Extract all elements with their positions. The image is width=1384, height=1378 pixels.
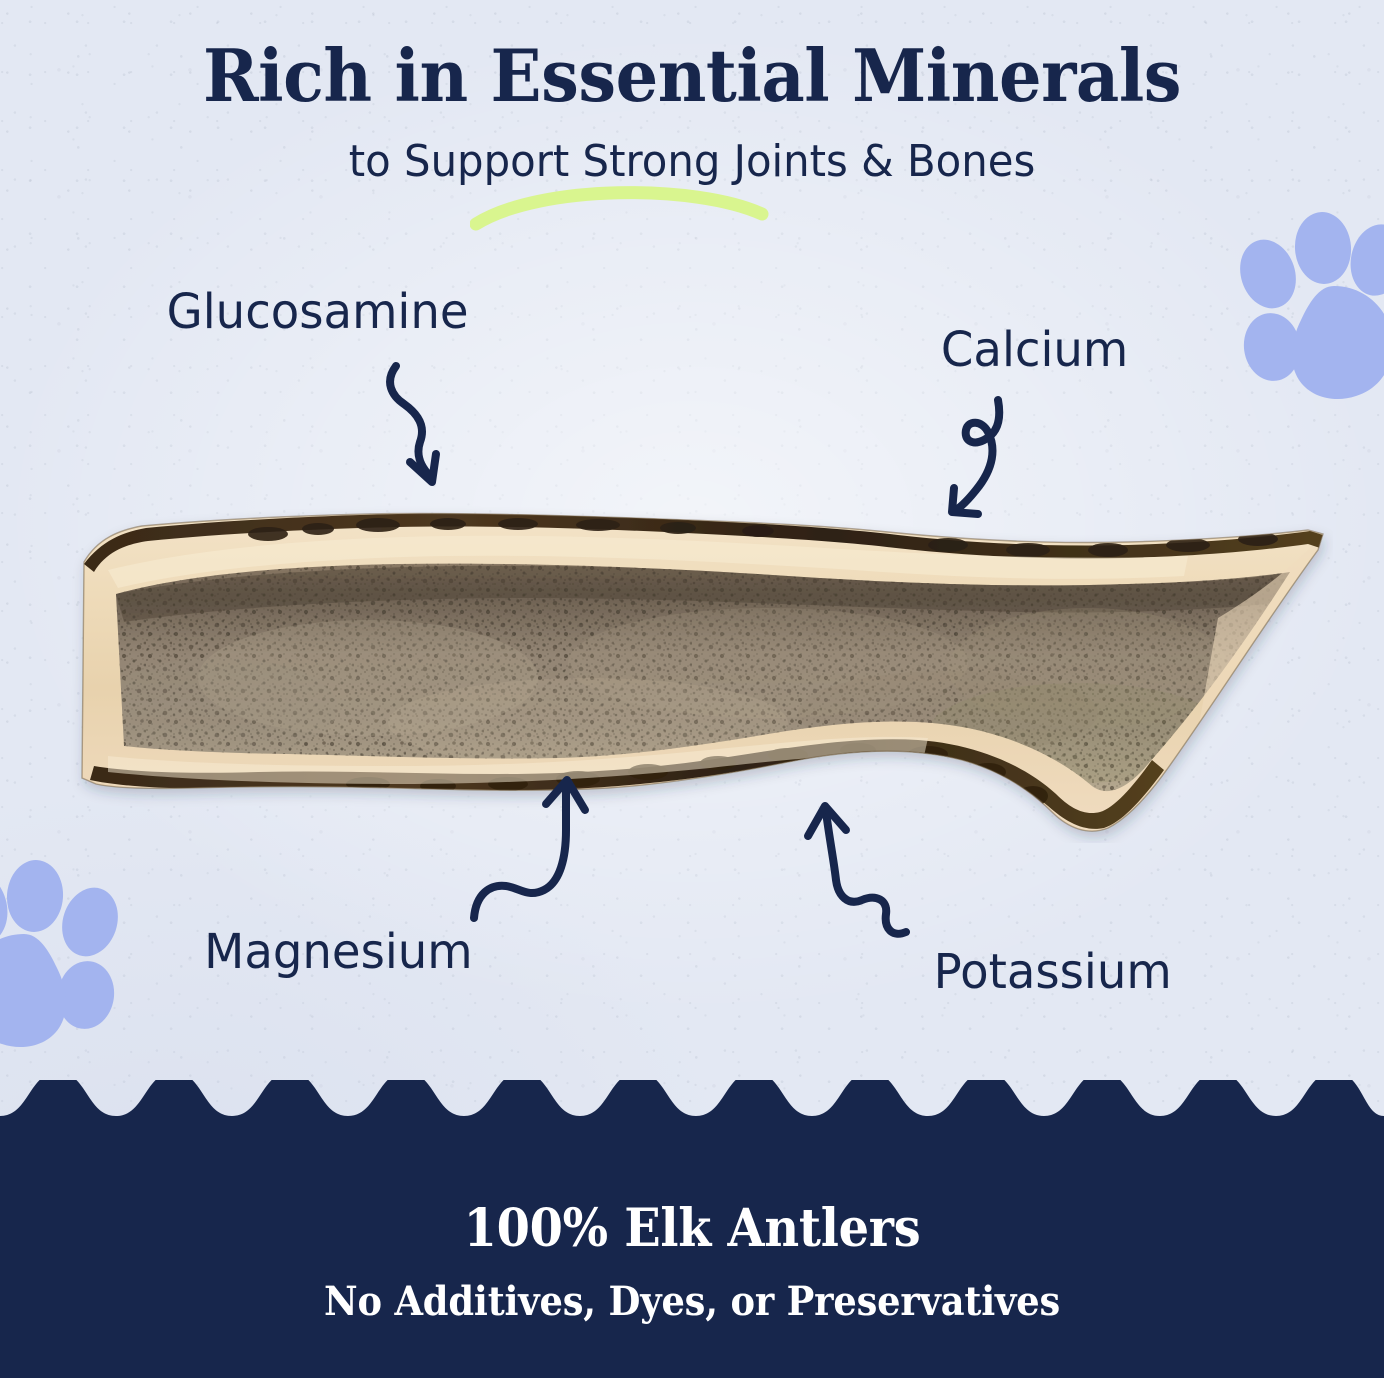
paw-print-icon <box>1230 212 1384 402</box>
infographic-canvas: Rich in Essential Minerals to Support St… <box>0 0 1384 1378</box>
callout-label-magnesium: Magnesium <box>204 928 472 976</box>
bottom-banner: 100% Elk Antlers No Additives, Dyes, or … <box>0 1080 1384 1378</box>
elk-antler-image <box>68 498 1333 843</box>
callout-label-glucosamine: Glucosamine <box>167 288 469 336</box>
paw-print-icon <box>0 860 128 1050</box>
underline-swoosh-icon <box>470 176 770 232</box>
page-title: Rich in Essential Minerals <box>48 40 1335 112</box>
callout-label-potassium: Potassium <box>934 948 1172 996</box>
wavy-arrow-up-left-icon <box>792 796 932 952</box>
loop-arrow-down-left-icon <box>946 392 1056 522</box>
squiggle-arrow-down-right-icon <box>386 354 496 494</box>
s-curve-arrow-up-right-icon <box>462 772 602 928</box>
banner-subhead: No Additives, Dyes, or Preservatives <box>55 1278 1328 1325</box>
callout-label-calcium: Calcium <box>941 326 1128 374</box>
banner-headline: 100% Elk Antlers <box>55 1198 1328 1259</box>
